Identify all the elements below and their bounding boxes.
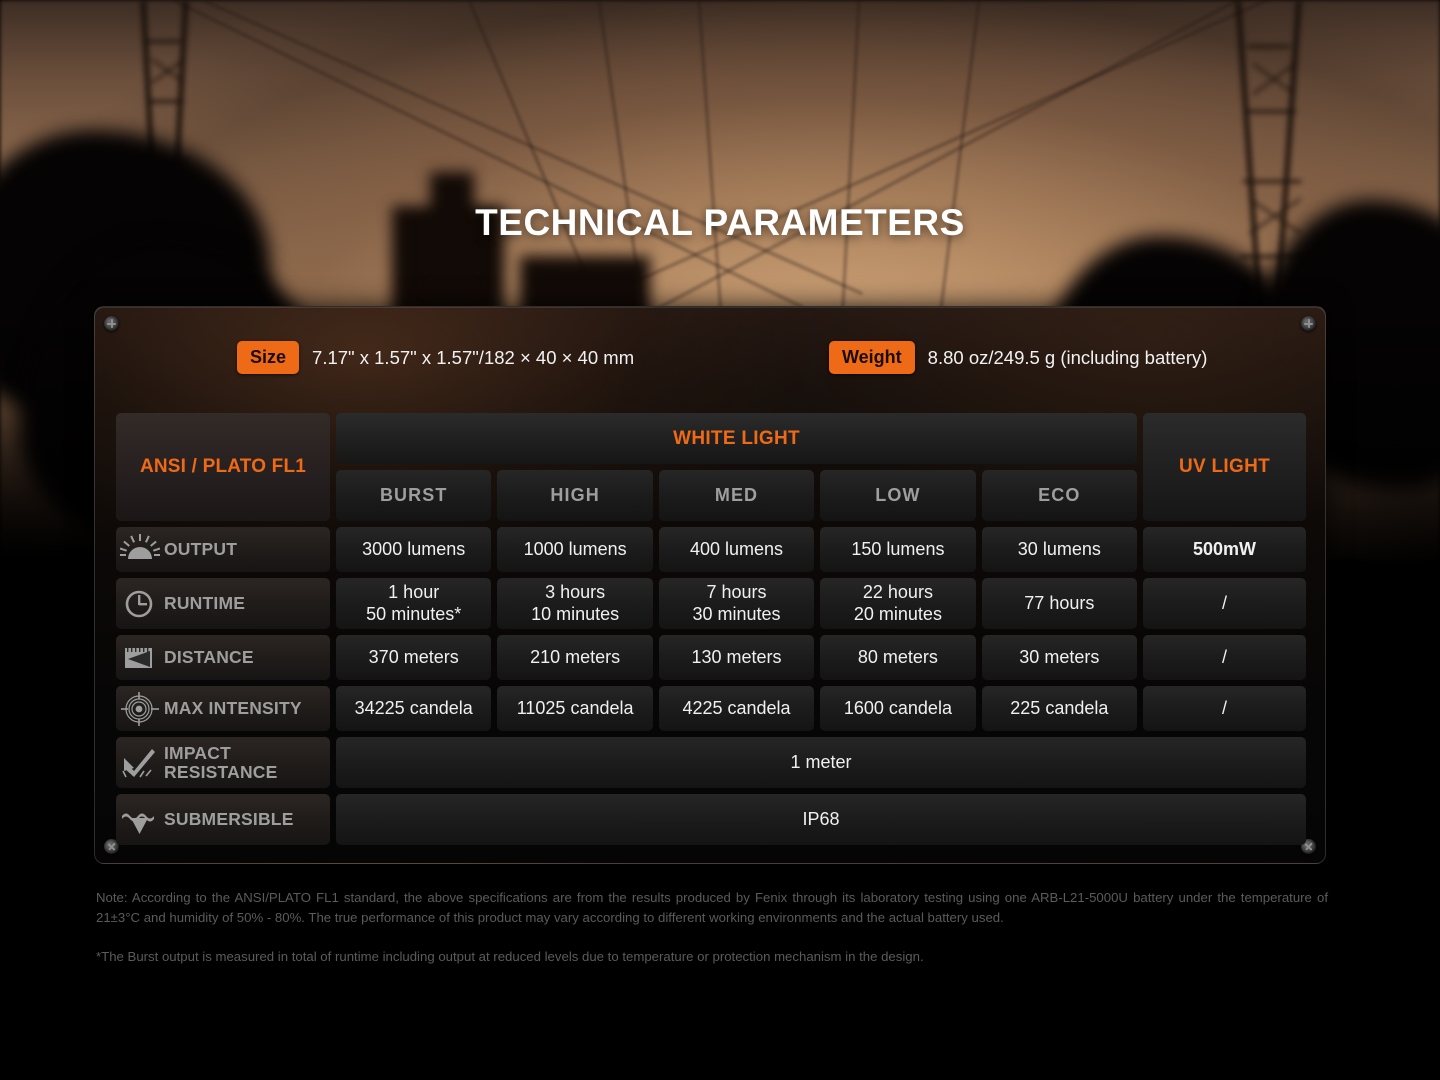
- mode-header-med: MED: [659, 470, 814, 521]
- table-header-band: ANSI / PLATO FL1 WHITE LIGHT BURST HIGH …: [116, 413, 1306, 521]
- cell-distance-uv: /: [1143, 635, 1306, 680]
- ruler-beam-icon: [120, 641, 160, 675]
- size-value: 7.17" x 1.57" x 1.57"/182 × 40 × 40 mm: [312, 347, 634, 369]
- clock-icon: [120, 587, 160, 621]
- cell-distance-high: 210 meters: [497, 635, 652, 680]
- mode-header-row: BURST HIGH MED LOW ECO: [336, 470, 1137, 521]
- cell-runtime-low: 22 hours20 minutes: [820, 578, 975, 629]
- row-label-impact-resistance: IMPACTRESISTANCE: [116, 737, 330, 788]
- size-spec: Size 7.17" x 1.57" x 1.57"/182 × 40 × 40…: [237, 341, 634, 374]
- mode-header-high: HIGH: [497, 470, 652, 521]
- cell-output-burst: 3000 lumens: [336, 527, 491, 572]
- cell-runtime-eco: 77 hours: [982, 578, 1137, 629]
- size-badge: Size: [237, 341, 299, 374]
- sun-rays-icon: [120, 533, 160, 567]
- cell-distance-burst: 370 meters: [336, 635, 491, 680]
- row-label-text: DISTANCE: [164, 648, 254, 667]
- cell-runtime-med: 7 hours30 minutes: [659, 578, 814, 629]
- mode-header-eco: ECO: [982, 470, 1137, 521]
- cell-max-intensity-eco: 225 candela: [982, 686, 1137, 731]
- cell-max-intensity-med: 4225 candela: [659, 686, 814, 731]
- cell-max-intensity-uv: /: [1143, 686, 1306, 731]
- cell-impact-resistance-value: 1 meter: [336, 737, 1306, 788]
- mode-header-low: LOW: [820, 470, 975, 521]
- uv-light-header: UV LIGHT: [1143, 413, 1306, 521]
- row-label-text: SUBMERSIBLE: [164, 810, 294, 829]
- cell-distance-eco: 30 meters: [982, 635, 1137, 680]
- water-waves-icon: [120, 803, 160, 837]
- uv-light-label: UV LIGHT: [1179, 456, 1270, 478]
- cell-submersible-value: IP68: [336, 794, 1306, 845]
- target-rings-icon: [120, 692, 160, 726]
- white-light-header-group: WHITE LIGHT BURST HIGH MED LOW ECO: [336, 413, 1137, 521]
- screw-icon: [104, 316, 119, 331]
- white-light-label: WHITE LIGHT: [673, 428, 800, 450]
- cell-output-eco: 30 lumens: [982, 527, 1137, 572]
- row-label-text: OUTPUT: [164, 540, 237, 559]
- spec-header: Size 7.17" x 1.57" x 1.57"/182 × 40 × 40…: [95, 341, 1325, 403]
- table-row: OUTPUT 3000 lumens 1000 lumens 400 lumen…: [116, 527, 1306, 572]
- standard-label: ANSI / PLATO FL1: [140, 456, 306, 478]
- cell-max-intensity-high: 11025 candela: [497, 686, 652, 731]
- specs-panel: Size 7.17" x 1.57" x 1.57"/182 × 40 × 40…: [94, 306, 1326, 864]
- table-row: IMPACTRESISTANCE 1 meter: [116, 737, 1306, 788]
- note-burst-footnote: *The Burst output is measured in total o…: [96, 947, 1328, 967]
- row-label-max-intensity: MAX INTENSITY: [116, 686, 330, 731]
- cell-output-uv: 500mW: [1143, 527, 1306, 572]
- specs-table: ANSI / PLATO FL1 WHITE LIGHT BURST HIGH …: [116, 413, 1306, 851]
- standard-label-cell: ANSI / PLATO FL1: [116, 413, 330, 521]
- note-ansi-standard: Note: According to the ANSI/PLATO FL1 st…: [96, 888, 1328, 929]
- cell-distance-med: 130 meters: [659, 635, 814, 680]
- notes-section: Note: According to the ANSI/PLATO FL1 st…: [96, 888, 1328, 967]
- mode-header-burst: BURST: [336, 470, 491, 521]
- table-row: MAX INTENSITY 34225 candela 11025 candel…: [116, 686, 1306, 731]
- cell-output-med: 400 lumens: [659, 527, 814, 572]
- cell-output-high: 1000 lumens: [497, 527, 652, 572]
- row-label-submersible: SUBMERSIBLE: [116, 794, 330, 845]
- cell-runtime-uv: /: [1143, 578, 1306, 629]
- row-label-text: MAX INTENSITY: [164, 699, 302, 718]
- impact-arrow-icon: [120, 746, 160, 780]
- cell-distance-low: 80 meters: [820, 635, 975, 680]
- white-light-header: WHITE LIGHT: [336, 413, 1137, 464]
- cell-max-intensity-burst: 34225 candela: [336, 686, 491, 731]
- screw-icon: [1301, 316, 1316, 331]
- weight-value: 8.80 oz/249.5 g (including battery): [928, 347, 1208, 369]
- row-label-output: OUTPUT: [116, 527, 330, 572]
- table-row: RUNTIME 1 hour50 minutes* 3 hours10 minu…: [116, 578, 1306, 629]
- cell-runtime-high: 3 hours10 minutes: [497, 578, 652, 629]
- row-label-distance: DISTANCE: [116, 635, 330, 680]
- page-title: TECHNICAL PARAMETERS: [0, 202, 1440, 244]
- weight-badge: Weight: [829, 341, 915, 374]
- row-label-text: RUNTIME: [164, 594, 245, 613]
- table-row: DISTANCE 370 meters 210 meters 130 meter…: [116, 635, 1306, 680]
- weight-spec: Weight 8.80 oz/249.5 g (including batter…: [829, 341, 1207, 374]
- table-row: SUBMERSIBLE IP68: [116, 794, 1306, 845]
- row-label-text: IMPACTRESISTANCE: [164, 744, 278, 782]
- cell-max-intensity-low: 1600 candela: [820, 686, 975, 731]
- cell-output-low: 150 lumens: [820, 527, 975, 572]
- cell-runtime-burst: 1 hour50 minutes*: [336, 578, 491, 629]
- row-label-runtime: RUNTIME: [116, 578, 330, 629]
